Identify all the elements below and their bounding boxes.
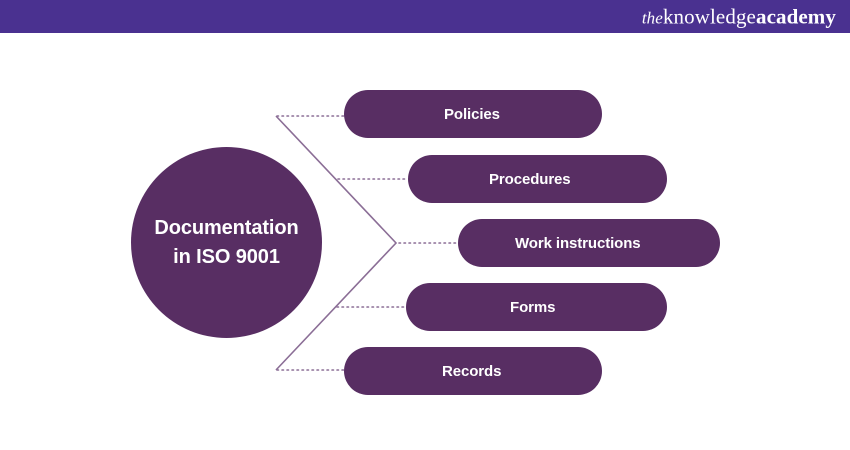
branch-pill-procedures[interactable]: Procedures: [408, 155, 667, 203]
center-node-documentation: Documentation in ISO 9001: [131, 147, 322, 338]
branch-label-work-instructions: Work instructions: [515, 235, 641, 252]
branch-label-forms: Forms: [510, 299, 555, 316]
branch-pill-work-instructions[interactable]: Work instructions: [458, 219, 720, 267]
branch-pill-records[interactable]: Records: [344, 347, 602, 395]
branch-label-procedures: Procedures: [489, 171, 571, 188]
center-node-text: Documentation in ISO 9001: [154, 214, 298, 272]
brand-logo-knowledge: knowledge: [663, 4, 756, 28]
branch-pill-policies[interactable]: Policies: [344, 90, 602, 138]
branch-label-records: Records: [442, 363, 501, 380]
documentation-hierarchy-diagram: Documentation in ISO 9001 Policies Proce…: [0, 33, 850, 450]
brand-logo-academy: academy: [756, 4, 836, 28]
center-node-line-2: in ISO 9001: [173, 246, 280, 268]
branch-label-policies: Policies: [444, 106, 500, 123]
brand-logo: theknowledgeacademy: [642, 6, 836, 27]
branch-pill-forms[interactable]: Forms: [406, 283, 667, 331]
brand-logo-the: the: [642, 8, 663, 27]
header-band: theknowledgeacademy: [0, 0, 850, 33]
center-node-line-1: Documentation: [154, 217, 298, 239]
